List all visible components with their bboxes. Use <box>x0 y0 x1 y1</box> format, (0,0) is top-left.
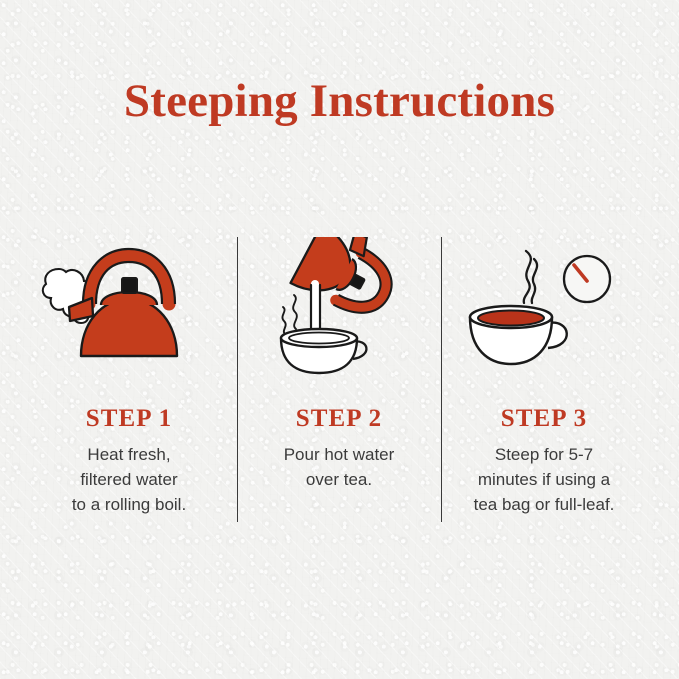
tea-steam-wisp-1 <box>524 251 531 303</box>
step-column-3: STEP 3 Steep for 5-7 minutes if using a … <box>434 237 654 517</box>
step-2-line-1: Pour hot water <box>229 442 449 467</box>
step-2-body: Pour hot water over tea. <box>229 442 449 492</box>
step-1-body: Heat fresh, filtered water to a rolling … <box>19 442 239 517</box>
teacup-with-clock-icon <box>444 237 644 377</box>
step-1-line-3: to a rolling boil. <box>19 492 239 517</box>
step-2-label: STEP 2 <box>229 405 449 433</box>
step-3-label: STEP 3 <box>434 405 654 433</box>
step-3-line-2: minutes if using a <box>434 467 654 492</box>
page-title: Steeping Instructions <box>0 74 679 128</box>
step-3-line-3: tea bag or full-leaf. <box>434 492 654 517</box>
step-1-line-1: Heat fresh, <box>19 442 239 467</box>
steaming-kettle-icon <box>29 237 229 377</box>
step-3-line-1: Steep for 5-7 <box>434 442 654 467</box>
tilted-kettle <box>291 237 409 327</box>
kettle-knob <box>122 278 137 293</box>
step-1-illustration <box>19 237 239 377</box>
step-2-illustration <box>229 237 449 377</box>
kettle-pouring-into-cup-icon <box>239 237 439 377</box>
step-1-line-2: filtered water <box>19 467 239 492</box>
cup-inner-rim <box>289 333 349 344</box>
cup-steam-wisp-1 <box>293 295 297 329</box>
steeping-instructions-poster: Steeping Instructions <box>0 0 679 679</box>
tea-liquid <box>478 311 544 326</box>
tea-steam-wisp-2 <box>532 259 537 303</box>
step-2-line-2: over tea. <box>229 467 449 492</box>
kettle-body <box>81 299 177 356</box>
cup-steam-wisp-2 <box>282 307 285 334</box>
step-column-2: STEP 2 Pour hot water over tea. <box>229 237 449 492</box>
step-3-body: Steep for 5-7 minutes if using a tea bag… <box>434 442 654 517</box>
step-column-1: STEP 1 Heat fresh, filtered water to a r… <box>19 237 239 517</box>
step-1-label: STEP 1 <box>19 405 239 433</box>
step-3-illustration <box>434 237 654 377</box>
